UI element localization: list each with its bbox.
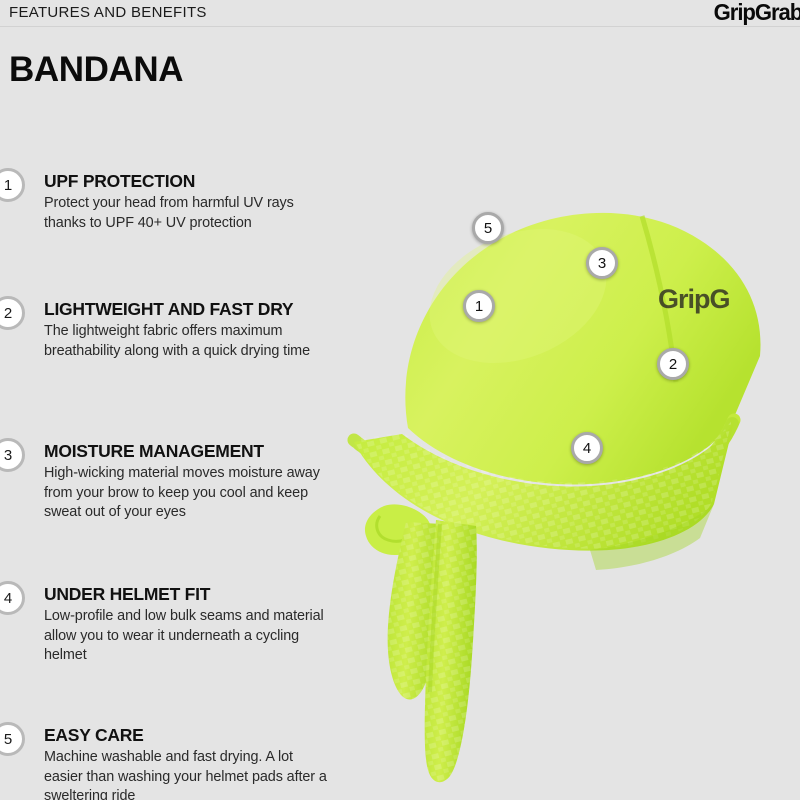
feature-title: UNDER HELMET FIT — [44, 584, 210, 605]
callout-marker-2[interactable]: 2 — [657, 348, 689, 380]
infographic-page: FEATURES AND BENEFITS GripGrab BANDANA 1… — [0, 0, 800, 800]
feature-description: Protect your head from harmful UV rays t… — [44, 194, 330, 233]
feature-number-badge: 5 — [0, 722, 25, 756]
feature-description: Machine washable and fast drying. A lot … — [44, 748, 330, 800]
feature-title: MOISTURE MANAGEMENT — [44, 441, 264, 462]
feature-number-badge: 3 — [0, 438, 25, 472]
feature-title: UPF PROTECTION — [44, 171, 195, 192]
callout-marker-5[interactable]: 5 — [472, 212, 504, 244]
callout-marker-1[interactable]: 1 — [463, 290, 495, 322]
feature-number-badge: 4 — [0, 581, 25, 615]
feature-number-badge: 1 — [0, 168, 25, 202]
feature-list: 1 UPF PROTECTION Protect your head from … — [0, 0, 340, 800]
feature-title: EASY CARE — [44, 725, 144, 746]
feature-description: The lightweight fabric offers maximum br… — [44, 322, 330, 361]
callout-marker-3[interactable]: 3 — [586, 247, 618, 279]
bandana-photo: GripG 5 3 1 2 4 — [340, 120, 800, 800]
feature-number-badge: 2 — [0, 296, 25, 330]
bandana-illustration: GripG — [340, 120, 800, 800]
feature-title: LIGHTWEIGHT AND FAST DRY — [44, 299, 293, 320]
feature-description: High-wicking material moves moisture awa… — [44, 464, 330, 523]
gripgrab-logo: GripGrab — [714, 0, 800, 26]
garment-brand-text: GripG — [658, 284, 730, 314]
callout-marker-4[interactable]: 4 — [571, 432, 603, 464]
feature-description: Low-profile and low bulk seams and mater… — [44, 607, 330, 666]
